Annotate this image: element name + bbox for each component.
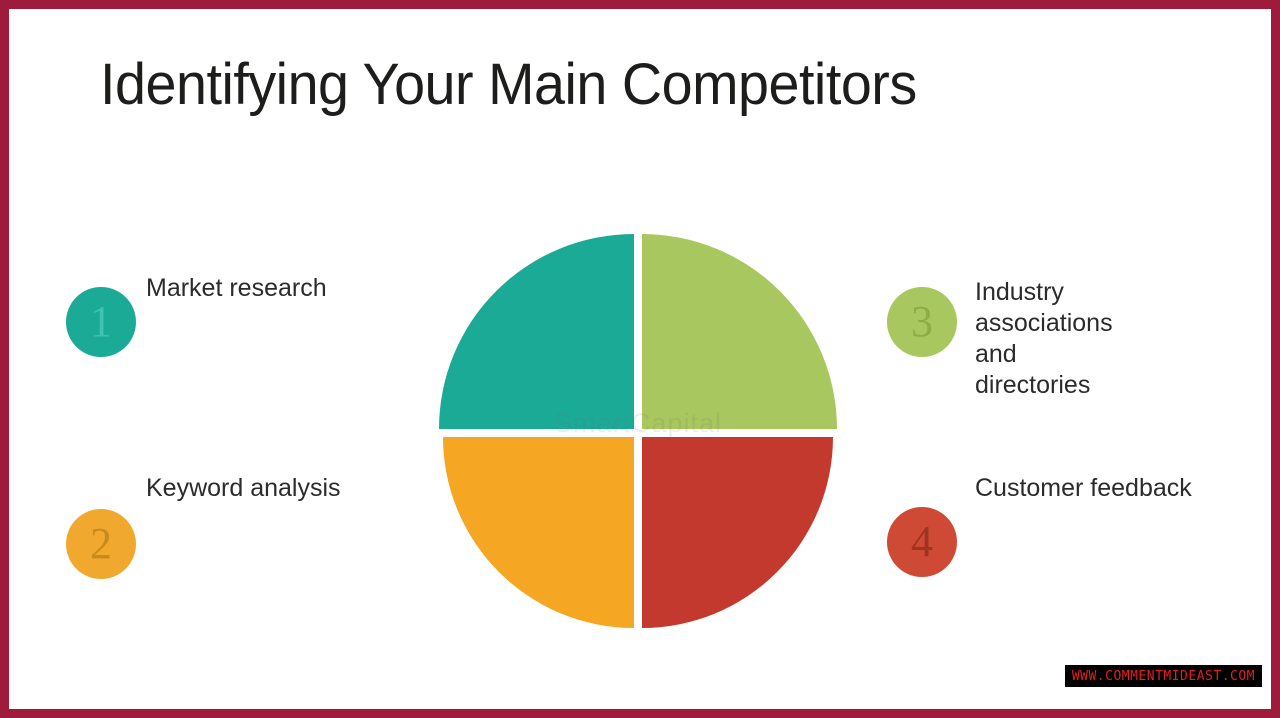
site-watermark-badge: WWW.COMMENTMIDEAST.COM <box>1065 665 1262 687</box>
pie-slice-industry-associations[interactable] <box>642 234 837 429</box>
pie-chart: SmartCapital <box>437 228 839 630</box>
list-item-label: Customer feedback <box>975 473 1192 504</box>
badge-number-3: 3 <box>887 287 957 357</box>
badge-number-2: 2 <box>66 509 136 579</box>
badge-number-1: 1 <box>66 287 136 357</box>
badge-number-4: 4 <box>887 507 957 577</box>
pie-slice-market-research[interactable] <box>439 234 634 429</box>
pie-slice-keyword-analysis[interactable] <box>443 437 634 628</box>
pie-slice-customer-feedback[interactable] <box>642 437 833 628</box>
list-item-label: Market research <box>146 273 327 304</box>
slide-frame: Identifying Your Main Competitors SmartC… <box>0 0 1280 718</box>
page-title: Identifying Your Main Competitors <box>100 49 917 121</box>
list-item-label: Keyword analysis <box>146 473 341 504</box>
slide-canvas: Identifying Your Main Competitors SmartC… <box>9 9 1271 709</box>
list-item-label: Industry associations and directories <box>975 277 1113 401</box>
